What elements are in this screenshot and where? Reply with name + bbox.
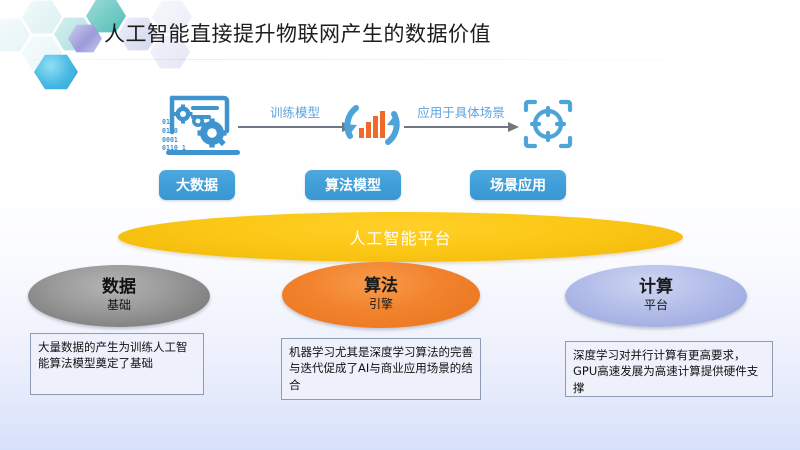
scene-target-focus-icon	[502, 90, 594, 164]
binary-line-2: 0110	[162, 127, 178, 135]
pillar-algorithm-subtitle: 引擎	[369, 297, 393, 313]
page-title: 人工智能直接提升物联网产生的数据价值	[104, 18, 491, 48]
pill-big-data[interactable]: 大数据	[159, 170, 235, 200]
pill-scene-application[interactable]: 场景应用	[470, 170, 566, 200]
pill-algorithm-model[interactable]: 算法模型	[305, 170, 401, 200]
slide-canvas: 人工智能直接提升物联网产生的数据价值	[0, 0, 800, 450]
flow-node-scene	[502, 90, 594, 164]
pillar-computing-subtitle: 平台	[644, 298, 668, 314]
ai-platform-ellipse[interactable]: 人工智能平台	[118, 212, 683, 262]
caption-computing: 深度学习对并行计算有更高要求，GPU高速发展为高速计算提供硬件支撑	[565, 341, 773, 397]
binary-line-1: 01	[162, 118, 170, 126]
title-bullet-hexagon-icon	[68, 24, 102, 53]
pillar-algorithm[interactable]: 算法 引擎	[282, 262, 480, 328]
pillar-data[interactable]: 数据 基础	[28, 265, 210, 327]
pillar-computing[interactable]: 计算 平台	[565, 265, 747, 327]
caption-algorithm: 机器学习尤其是深度学习算法的完善与迭代促成了AI与商业应用场景的结合	[281, 338, 481, 400]
binary-line-3: 0001	[162, 136, 178, 144]
pillar-computing-title: 计算	[639, 279, 673, 297]
binary-line-4: 0110 1	[162, 144, 186, 152]
caption-data: 大量数据的产生为训练人工智能算法模型奠定了基础	[30, 333, 204, 395]
pillar-algorithm-title: 算法	[364, 278, 398, 296]
pillar-data-title: 数据	[102, 279, 136, 297]
arrow-apply-scene-line	[404, 126, 510, 128]
title-divider	[0, 59, 800, 60]
pillar-data-subtitle: 基础	[107, 298, 131, 314]
